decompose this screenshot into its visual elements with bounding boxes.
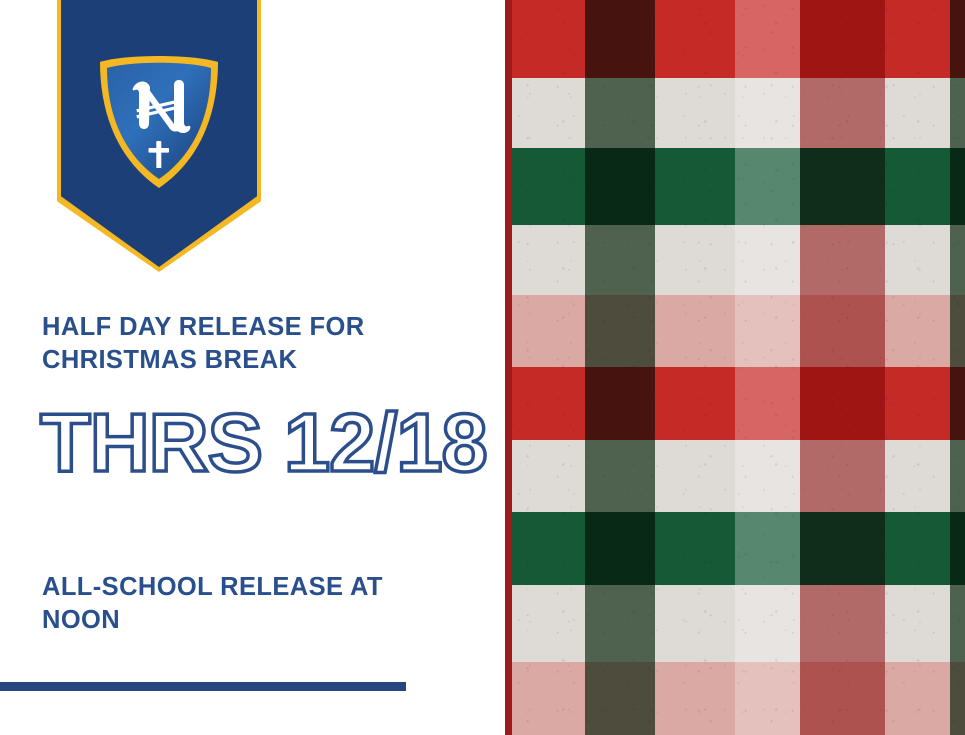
plaid-texture-overlay xyxy=(505,0,965,735)
event-date: THRS 12/18 xyxy=(40,401,510,484)
school-crest-banner xyxy=(57,0,261,272)
headline-top-line2: CHRISTMAS BREAK xyxy=(42,344,442,377)
shield-crest-icon xyxy=(96,52,222,192)
headline-top-line1: HALF DAY RELEASE FOR xyxy=(42,311,442,344)
headline-bottom-line2: NOON xyxy=(42,604,442,637)
plaid-edge-stripe xyxy=(505,0,512,735)
event-detail: ALL-SCHOOL RELEASE AT NOON xyxy=(42,571,442,636)
christmas-plaid-pattern xyxy=(505,0,965,735)
headline-bottom-line1: ALL-SCHOOL RELEASE AT xyxy=(42,571,442,604)
page-title: HALF DAY RELEASE FOR CHRISTMAS BREAK xyxy=(42,311,442,376)
content-panel: HALF DAY RELEASE FOR CHRISTMAS BREAK THR… xyxy=(0,0,505,735)
poster-canvas: HALF DAY RELEASE FOR CHRISTMAS BREAK THR… xyxy=(0,0,965,735)
divider-rule xyxy=(0,682,406,691)
